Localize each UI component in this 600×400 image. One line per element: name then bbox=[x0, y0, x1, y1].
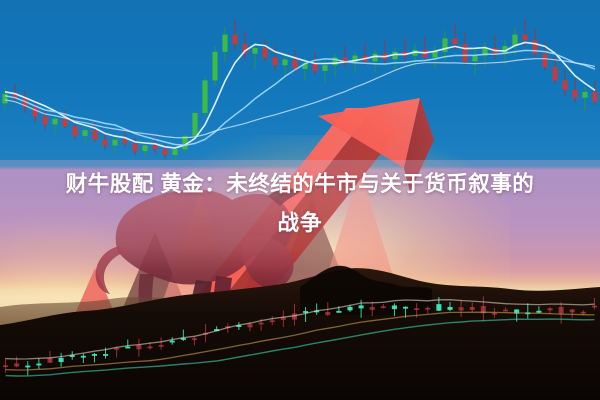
thumbnail-image: 财牛股配 黄金：未终结的牛市与关于货币叙事的 战争 bbox=[0, 0, 600, 400]
title-line-1: 财牛股配 黄金：未终结的牛市与关于货币叙事的 bbox=[10, 165, 590, 204]
title-block: 财牛股配 黄金：未终结的牛市与关于货币叙事的 战争 bbox=[0, 165, 600, 243]
lower-candlestick-chart bbox=[0, 250, 600, 400]
title-line-2: 战争 bbox=[10, 204, 590, 243]
